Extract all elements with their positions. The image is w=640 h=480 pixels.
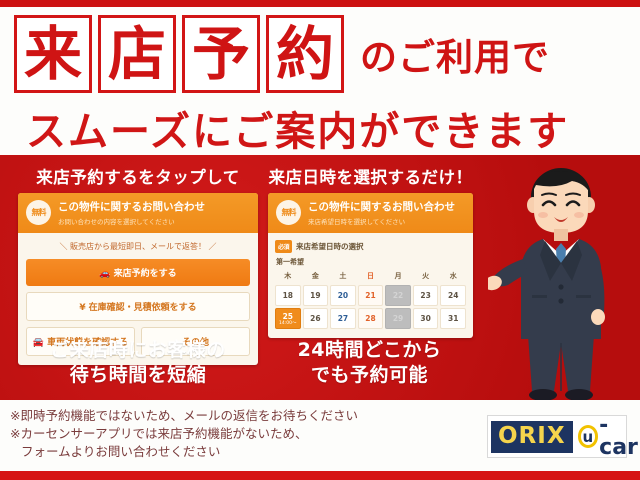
left-column-title: 来店予約するをタップして [18, 164, 258, 188]
calendar-day-cell[interactable]: 20 [330, 285, 356, 306]
right-column-title: 来店日時を選択するだけ！ [268, 164, 473, 188]
calendar-day-number: 19 [310, 291, 320, 300]
inquiry-form-subheading: お問い合わせの内容を選択してください [58, 216, 250, 226]
stock-quote-button-label: 在庫確認・見積依頼をする [89, 303, 197, 313]
top-red-rail [0, 0, 640, 7]
day-header-sun: 日 [358, 270, 384, 283]
calendar-day-number: 27 [338, 314, 348, 323]
salesman-illustration [488, 163, 634, 400]
headline-line-1: 来 店 予 約 のご利用で [14, 15, 550, 93]
calendar-day-number: 29 [393, 314, 403, 323]
free-badge-calendar: 無料 [276, 200, 301, 225]
ucar-car-text: -car [599, 415, 640, 459]
calendar-day-number: 21 [365, 291, 375, 300]
bottom-red-rail [0, 471, 640, 480]
calendar-day-cell[interactable]: 18 [275, 285, 301, 306]
calendar-day-cell-selected[interactable]: 25 14:00〜 [275, 308, 301, 329]
feature-section: 来店予約するをタップして 無料 この物件に関するお問い合わせ お問い合わせの内容… [0, 155, 640, 400]
calendar-field-label-row: 必須 来店希望日時の選択 [275, 240, 466, 253]
day-header-thu: 木 [275, 270, 301, 283]
boxed-kanji-1: 来 [14, 15, 92, 93]
preference-label: 第一希望 [276, 257, 466, 267]
day-header-mon: 月 [385, 270, 411, 283]
boxed-kanji-3-text: 予 [192, 25, 250, 83]
calendar-day-number: 25 [283, 312, 293, 321]
left-benefit-line-1: ご来店時にお客様の [18, 338, 258, 363]
left-feature-column: 来店予約するをタップして 無料 この物件に関するお問い合わせ お問い合わせの内容… [18, 155, 258, 365]
advertisement-banner: 来 店 予 約 のご利用で スムーズにご案内ができます 来店予約するをタップして… [0, 0, 640, 480]
left-benefit-caption: ご来店時にお客様の 待ち時間を短縮 [18, 338, 258, 388]
calendar-grid: 木 金 土 日 月 火 水 18 19 20 21 22 23 24 [275, 270, 466, 329]
footer-note-1: ※即時予約機能ではないため、メールの返信をお待ちください [10, 407, 365, 425]
calendar-day-cell[interactable]: 19 [303, 285, 329, 306]
calendar-day-cell[interactable]: 26 [303, 308, 329, 329]
calendar-form-heading: この物件に関するお問い合わせ [308, 199, 465, 214]
calendar-day-cell[interactable]: 27 [330, 308, 356, 329]
calendar-day-cell[interactable]: 31 [440, 308, 466, 329]
calendar-day-cell-disabled: 29 [385, 308, 411, 329]
day-header-wed: 水 [440, 270, 466, 283]
left-benefit-line-2: 待ち時間を短縮 [18, 363, 258, 388]
calendar-day-number: 22 [393, 291, 403, 300]
calendar-picker: 必須 来店希望日時の選択 第一希望 木 金 土 日 月 火 水 18 19 [268, 233, 473, 338]
calendar-day-cell[interactable]: 30 [413, 308, 439, 329]
day-header-tue: 火 [413, 270, 439, 283]
headline-line-2: スムーズにご案内ができます [26, 99, 569, 157]
calendar-day-number: 30 [420, 314, 430, 323]
calendar-day-cell[interactable]: 24 [440, 285, 466, 306]
right-benefit-line-1: 24時間どこから [262, 338, 477, 363]
footer-note-2: ※カーセンサーアプリでは来店予約機能がないため、 [10, 425, 365, 443]
day-header-sat: 土 [330, 270, 356, 283]
boxed-kanji-4: 約 [266, 15, 344, 93]
boxed-kanji-1-text: 来 [24, 25, 82, 83]
calendar-day-number: 31 [448, 314, 458, 323]
calendar-day-cell-disabled: 22 [385, 285, 411, 306]
footer-note-3: フォームよりお問い合わせください [10, 443, 365, 461]
calendar-day-number: 28 [365, 314, 375, 323]
required-tag: 必須 [275, 240, 292, 253]
right-benefit-line-2: でも予約可能 [262, 363, 477, 388]
inquiry-form-header: 無料 この物件に関するお問い合わせ お問い合わせの内容を選択してください [18, 193, 258, 233]
free-badge: 無料 [26, 200, 51, 225]
boxed-kanji-2: 店 [98, 15, 176, 93]
calendar-day-cell[interactable]: 21 [358, 285, 384, 306]
calendar-form-mockup: 無料 この物件に関するお問い合わせ 来店希望日時を選択してください 必須 来店希… [268, 193, 473, 338]
calendar-form-header: 無料 この物件に関するお問い合わせ 来店希望日時を選択してください [268, 193, 473, 233]
inquiry-form-heading: この物件に関するお問い合わせ [58, 199, 250, 214]
boxed-kanji-2-text: 店 [108, 25, 166, 83]
footer-notes: ※即時予約機能ではないため、メールの返信をお待ちください ※カーセンサーアプリで… [10, 407, 365, 461]
ucar-u-circle: u [578, 425, 599, 448]
yen-icon: ¥ [79, 303, 85, 313]
right-feature-column: 来店日時を選択するだけ！ 無料 この物件に関するお問い合わせ 来店希望日時を選択… [268, 155, 473, 338]
stock-quote-button[interactable]: ¥在庫確認・見積依頼をする [26, 292, 250, 321]
calendar-day-number: 24 [448, 291, 458, 300]
calendar-day-time: 14:00〜 [279, 321, 296, 326]
footer-section: ※即時予約機能ではないため、メールの返信をお待ちください ※カーセンサーアプリで… [0, 400, 640, 471]
calendar-day-cell[interactable]: 28 [358, 308, 384, 329]
headline-section: 来 店 予 約 のご利用で スムーズにご案内ができます [0, 7, 640, 155]
orix-ucar-logo: ORIX u -car [487, 415, 627, 458]
reserve-visit-button[interactable]: 🚗来店予約をする [26, 259, 250, 286]
calendar-form-subheading: 来店希望日時を選択してください [308, 216, 465, 226]
inquiry-lead-text: ＼ 販売店から最短即日、メールで返答！ ／ [26, 241, 250, 252]
calendar-day-number: 26 [310, 314, 320, 323]
headline-tail-text: のご利用で [360, 27, 550, 81]
car-icon: 🚗 [99, 269, 110, 279]
day-header-fri: 金 [303, 270, 329, 283]
boxed-kanji-3: 予 [182, 15, 260, 93]
calendar-field-label: 来店希望日時の選択 [296, 241, 364, 252]
calendar-day-number: 18 [283, 291, 293, 300]
reserve-visit-button-label: 来店予約をする [114, 269, 177, 279]
right-benefit-caption: 24時間どこから でも予約可能 [262, 338, 477, 388]
orix-wordmark: ORIX [491, 421, 573, 453]
calendar-day-number: 23 [420, 291, 430, 300]
calendar-day-number: 20 [338, 291, 348, 300]
boxed-kanji-4-text: 約 [276, 25, 334, 83]
calendar-day-cell[interactable]: 23 [413, 285, 439, 306]
ucar-wordmark: u -car [578, 415, 640, 459]
